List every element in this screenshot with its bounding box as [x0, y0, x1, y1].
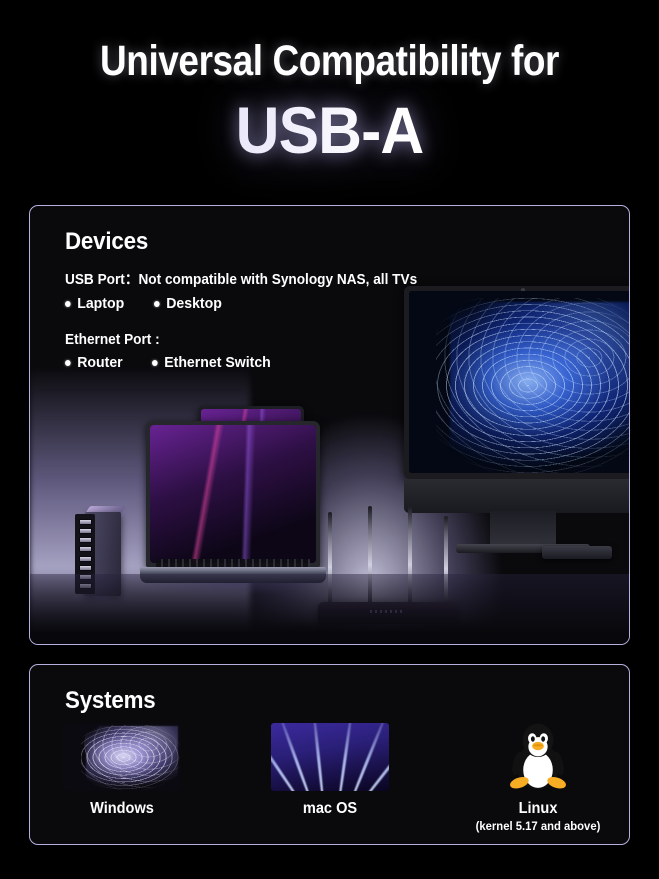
list-item: Laptop: [65, 295, 124, 312]
list-item-label: Desktop: [166, 295, 222, 312]
macos-light-ray: [276, 723, 314, 791]
macos-light-ray: [312, 723, 326, 791]
monitor-screen: [409, 291, 630, 473]
page-title-line1: Universal Compatibility for: [46, 40, 613, 83]
purple-wallpaper: [150, 425, 316, 563]
system-sublabel: (kernel 5.17 and above): [467, 819, 608, 833]
macos-wallpaper-icon: [271, 723, 389, 791]
tux-penguin-icon: [505, 723, 571, 791]
system-label: mac OS: [259, 800, 400, 818]
rj45-port-icon: [79, 528, 92, 534]
macos-light-ray: [337, 723, 354, 791]
systems-list: Windows mac OS: [30, 723, 629, 833]
devices-section-title: Devices: [65, 228, 148, 256]
ethernet-port-label: Ethernet Port :: [65, 332, 417, 348]
devices-text-block: USB Port：Not compatible with Synology NA…: [65, 268, 440, 371]
bullet-dot-icon: [154, 301, 160, 307]
list-item: Router: [65, 354, 123, 371]
system-label: Linux: [467, 800, 608, 818]
list-item: Desktop: [154, 295, 222, 312]
bullet-dot-icon: [65, 301, 71, 307]
usb-port-label: USB Port：: [65, 272, 138, 288]
usb-device-list: Laptop Desktop: [65, 295, 440, 312]
rj45-port-icon: [79, 519, 92, 525]
list-item: Ethernet Switch: [152, 354, 271, 371]
systems-panel: Systems Windows mac OS: [29, 664, 630, 845]
ethernet-device-list: Router Ethernet Switch: [65, 354, 440, 371]
accessory-box-illustration: [542, 546, 612, 559]
list-item-label: Ethernet Switch: [165, 354, 272, 371]
list-item-label: Laptop: [77, 295, 124, 312]
laptop-screen: [150, 425, 316, 563]
systems-section-title: Systems: [65, 687, 156, 715]
list-item-label: Router: [77, 354, 122, 371]
usb-port-note: Not compatible with Synology NAS, all TV…: [138, 272, 417, 288]
system-item-macos: mac OS: [255, 723, 405, 818]
macos-thumbnail: [271, 723, 389, 791]
system-item-windows: Windows: [47, 723, 197, 818]
rj45-port-icon: [79, 546, 92, 552]
usb-port-row: USB Port：Not compatible with Synology NA…: [65, 268, 417, 289]
rj45-port-icon: [79, 565, 92, 571]
system-item-linux: Linux (kernel 5.17 and above): [463, 723, 613, 833]
windows-bloom-icon: [63, 723, 181, 791]
rj45-port-icon: [79, 537, 92, 543]
bullet-dot-icon: [65, 360, 71, 366]
page-header: Universal Compatibility for USB-A: [0, 0, 659, 163]
laptop-lid: [146, 421, 320, 567]
system-label: Windows: [51, 800, 192, 818]
page-title-line2: USB-A: [26, 97, 632, 163]
windows-wallpaper: [409, 291, 630, 473]
macos-light-ray: [348, 723, 388, 791]
rj45-port-icon: [79, 556, 92, 562]
macos-light-ray: [358, 723, 388, 791]
devices-panel: Devices USB Port：Not compatible with Syn…: [29, 205, 630, 645]
floor-reflection: [30, 574, 629, 644]
bullet-dot-icon: [152, 360, 158, 366]
linux-thumbnail: [479, 723, 597, 791]
windows-thumbnail: [63, 723, 181, 791]
